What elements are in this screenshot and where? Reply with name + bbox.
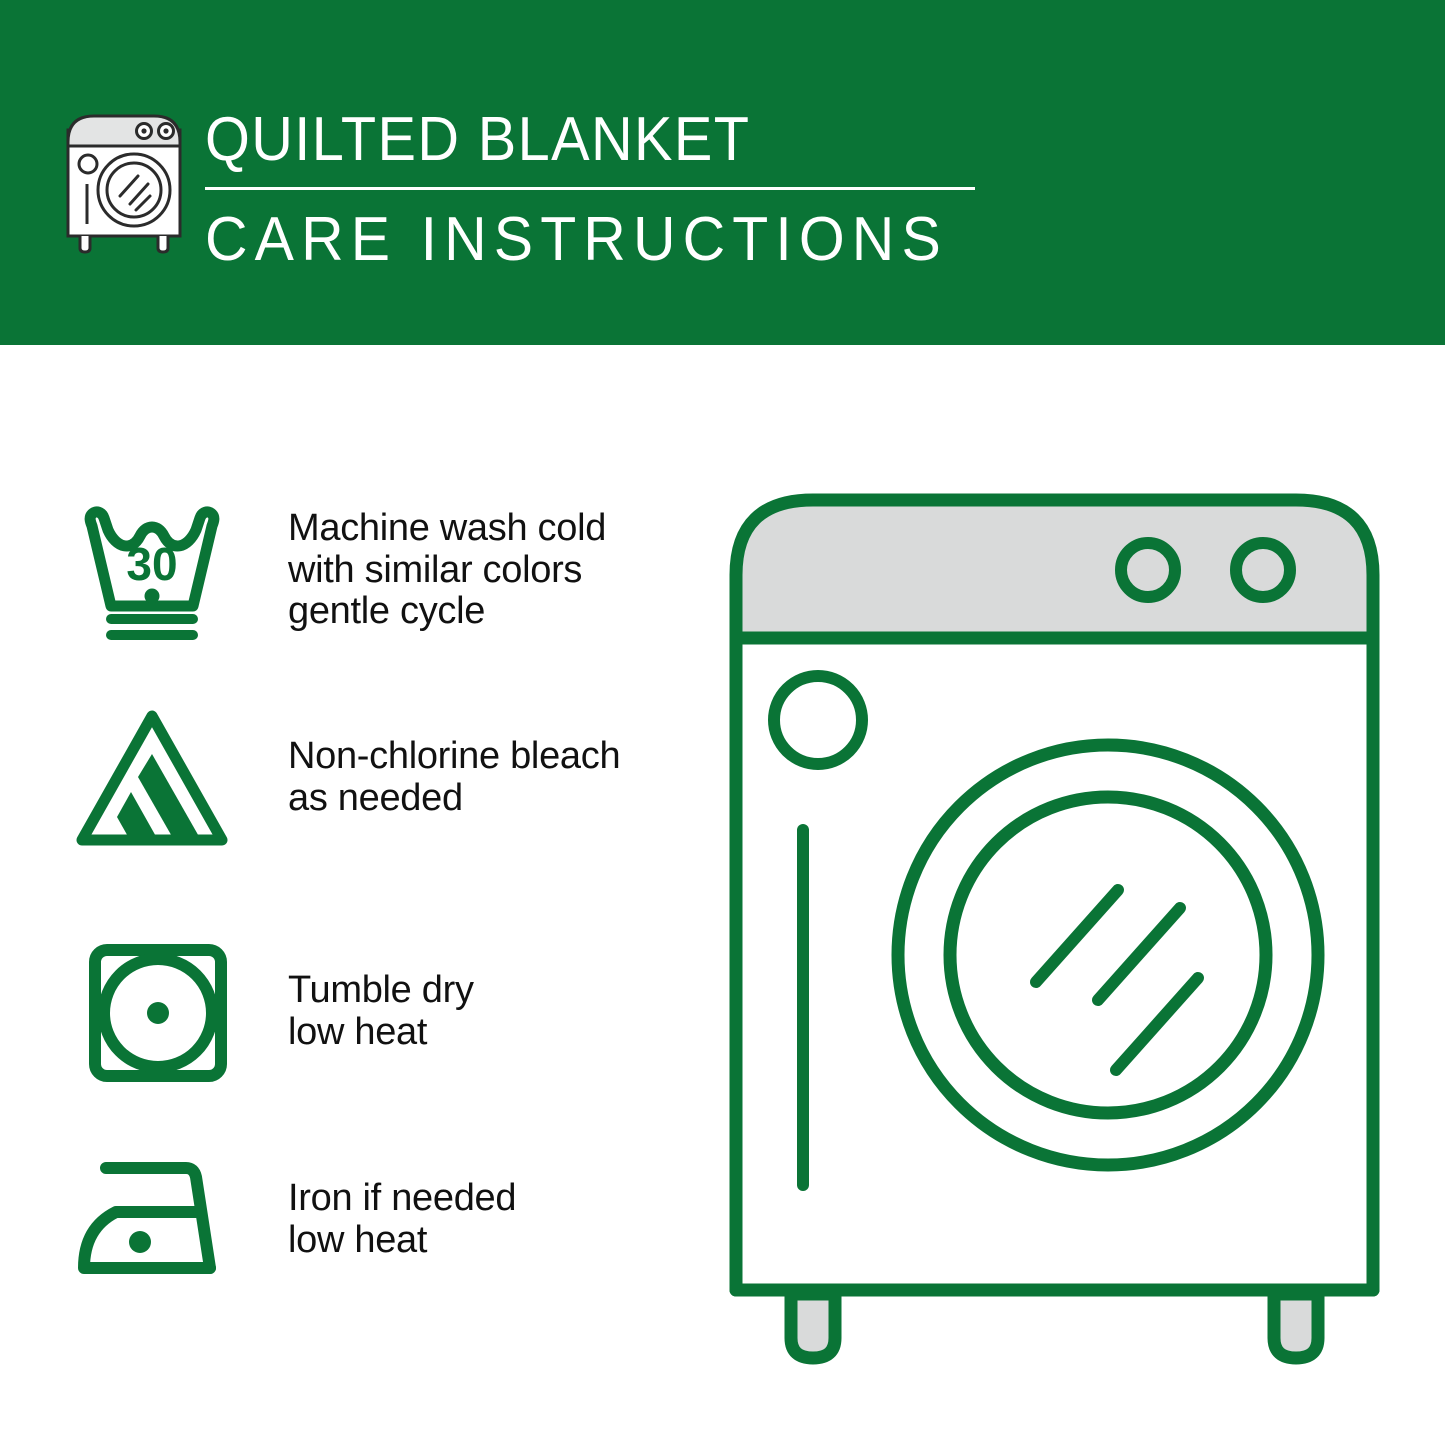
title-divider bbox=[205, 187, 975, 190]
care-instructions-page: QUILTED BLANKET CARE INSTRUCTIONS 30 Mac… bbox=[0, 0, 1445, 1445]
svg-text:30: 30 bbox=[126, 538, 177, 590]
wash-tub-30-icon: 30 bbox=[68, 496, 238, 646]
bleach-triangle-striped-icon bbox=[68, 706, 238, 856]
page-subtitle: CARE INSTRUCTIONS bbox=[205, 204, 956, 276]
tumble-dry-low-icon bbox=[68, 938, 238, 1088]
care-text-tumble-dry: Tumble dry low heat bbox=[288, 970, 474, 1053]
washing-machine-icon bbox=[62, 104, 190, 254]
care-text-iron: Iron if needed low heat bbox=[288, 1178, 516, 1261]
care-text-machine-wash: Machine wash cold with similar colors ge… bbox=[288, 508, 606, 633]
header-banner: QUILTED BLANKET CARE INSTRUCTIONS bbox=[0, 0, 1445, 345]
care-row-machine-wash: 30 Machine wash cold with similar colors… bbox=[0, 496, 690, 656]
care-row-tumble-dry: Tumble dry low heat bbox=[0, 938, 690, 1088]
page-title: QUILTED BLANKET bbox=[205, 103, 940, 177]
front-load-washing-machine-illustration bbox=[718, 470, 1418, 1370]
care-text-bleach: Non-chlorine bleach as needed bbox=[288, 736, 620, 819]
care-row-iron: Iron if needed low heat bbox=[0, 1150, 690, 1290]
care-row-bleach: Non-chlorine bleach as needed bbox=[0, 706, 690, 856]
iron-one-dot-icon bbox=[68, 1150, 238, 1300]
header-text-block: QUILTED BLANKET CARE INSTRUCTIONS bbox=[205, 103, 995, 276]
